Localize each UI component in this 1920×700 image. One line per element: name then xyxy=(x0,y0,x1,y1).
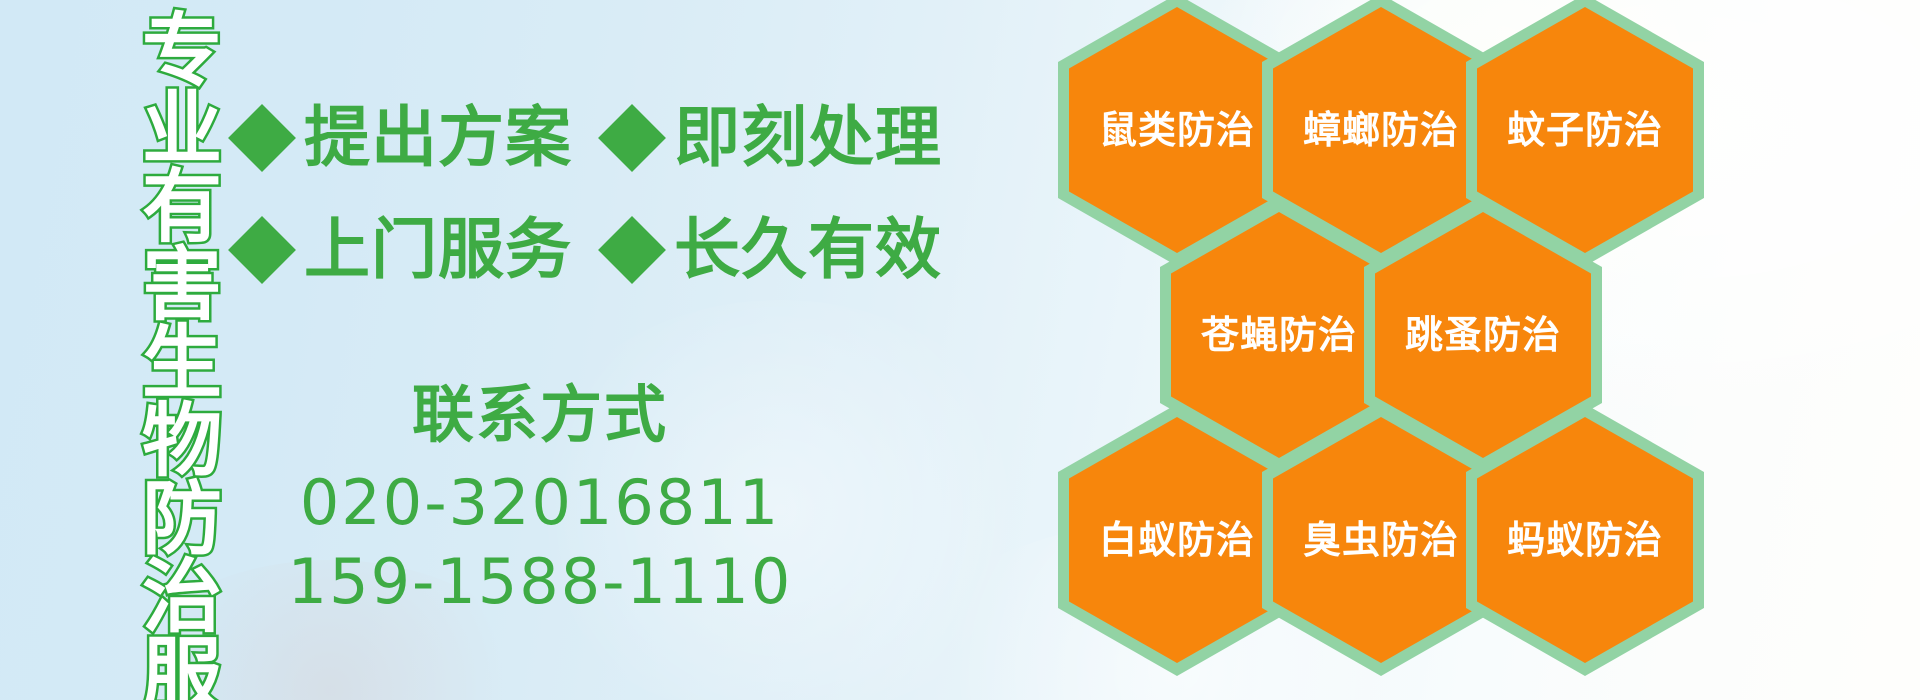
service-label: 苍蝇防治 xyxy=(1201,316,1357,354)
service-label: 蟑螂防治 xyxy=(1303,111,1459,149)
feature-item: 提出方案 xyxy=(238,105,572,171)
service-label: 跳蚤防治 xyxy=(1405,316,1561,354)
feature-row: 提出方案 即刻处理 xyxy=(238,82,878,194)
diamond-bullet-icon xyxy=(598,104,666,172)
phone-number-landline[interactable]: 020-32016811 xyxy=(260,463,820,542)
feature-row: 上门服务 长久有效 xyxy=(238,194,878,306)
feature-label: 上门服务 xyxy=(304,217,572,283)
diamond-bullet-icon xyxy=(598,216,666,284)
diamond-bullet-icon xyxy=(228,104,296,172)
contact-block: 联系方式 020-32016811 159-1588-1110 xyxy=(260,382,820,622)
service-label: 臭虫防治 xyxy=(1303,521,1459,559)
feature-item: 即刻处理 xyxy=(608,105,942,171)
feature-item: 长久有效 xyxy=(608,217,942,283)
service-label: 蚂蚁防治 xyxy=(1507,521,1663,559)
service-label: 白蚁防治 xyxy=(1099,521,1255,559)
phone-number-mobile[interactable]: 159-1588-1110 xyxy=(260,542,820,621)
feature-label: 即刻处理 xyxy=(674,105,942,171)
diamond-bullet-icon xyxy=(228,216,296,284)
service-honeycomb: 鼠类防治 蟑螂防治 蚊子防治 苍蝇防治 跳蚤防治 白蚁防治 臭虫防治 xyxy=(1058,0,1798,700)
service-label: 蚊子防治 xyxy=(1507,111,1663,149)
feature-list: 提出方案 即刻处理 上门服务 长久有效 xyxy=(238,82,878,306)
feature-label: 提出方案 xyxy=(304,105,572,171)
feature-item: 上门服务 xyxy=(238,217,572,283)
vertical-headline: 专业有害生物防治服务 xyxy=(108,8,216,698)
service-label: 鼠类防治 xyxy=(1099,111,1255,149)
promo-banner: 专业有害生物防治服务 提出方案 即刻处理 上门服务 长久有效 联 xyxy=(0,0,1920,700)
feature-label: 长久有效 xyxy=(674,217,942,283)
contact-heading: 联系方式 xyxy=(260,382,820,447)
